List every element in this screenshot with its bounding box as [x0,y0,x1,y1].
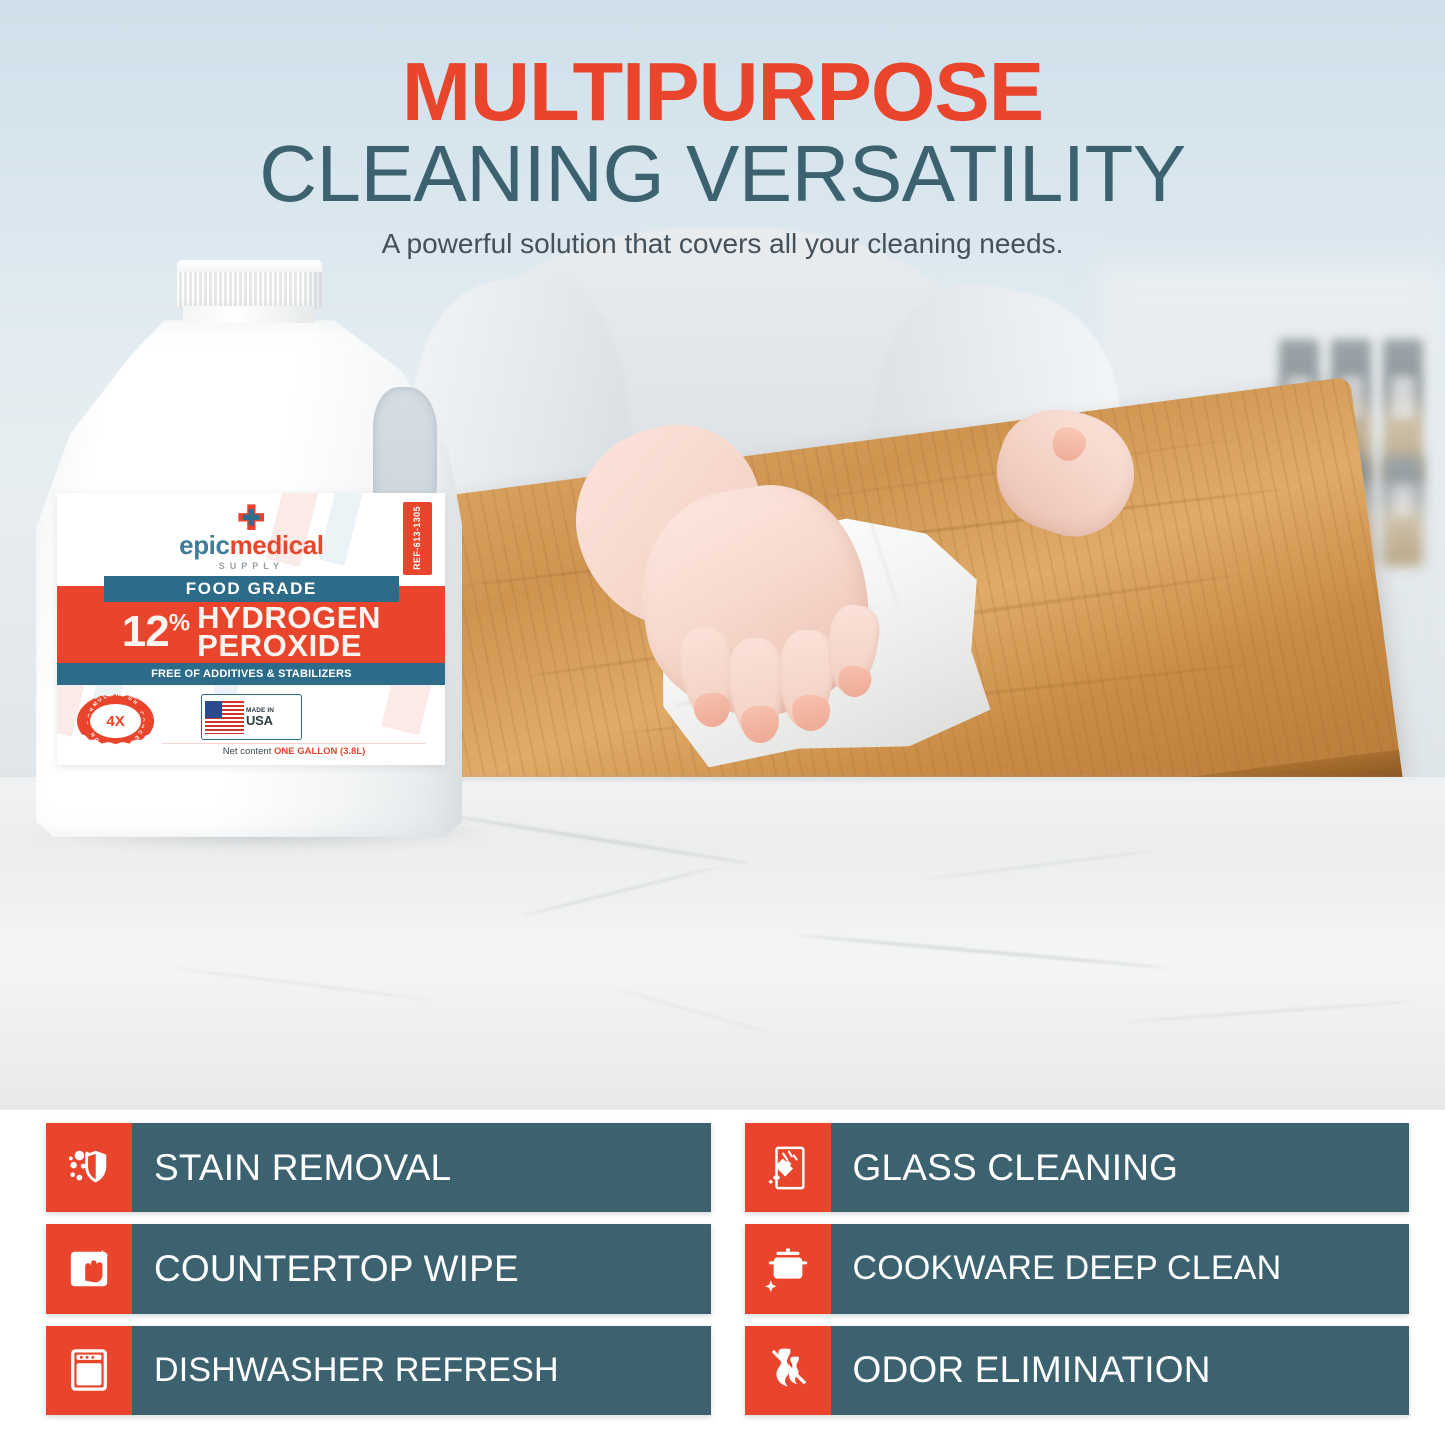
headline-primary: MULTIPURPOSE [0,52,1445,132]
feature-bar-dishwasher-refresh: DISHWASHER REFRESH [46,1326,711,1415]
feature-bar-glass-cleaning: GLASS CLEANING [745,1123,1410,1212]
headline-tagline: A powerful solution that covers all your… [0,228,1445,260]
food-grade-label: FOOD GRADE [186,579,317,599]
usa-flag-icon [205,701,244,735]
origin-line2: USA [246,714,274,727]
dishwasher-icon [46,1326,132,1415]
feature-bar-cookware-deep-clean: COOKWARE DEEP CLEAN [745,1224,1410,1313]
feature-label: GLASS CLEANING [831,1123,1410,1212]
product-label: REF-613-1305 epicmedical SUPPLY 12% [57,493,445,764]
feature-label: COUNTERTOP WIPE [132,1224,711,1313]
brand-name: epicmedical [57,532,445,558]
brand-subtitle: SUPPLY [57,561,445,571]
no-odor-icon [745,1326,831,1415]
squeegee-icon [745,1123,831,1212]
badge-multiplier-text: 4X [106,713,124,730]
net-content-line: Net content ONE GALLON (3.8L) [162,743,426,757]
percent-symbol: % [169,609,189,636]
stain-shield-icon [46,1123,132,1212]
badge-multiplier: 4X [88,702,142,740]
food-grade-badge: FOOD GRADE [104,576,399,602]
feature-label: ODOR ELIMINATION [831,1326,1410,1415]
feature-label: STAIN REMOVAL [132,1123,711,1212]
pot-icon [745,1224,831,1313]
brand-name-part2: medical [230,530,324,560]
brand-logo: epicmedical SUPPLY [57,504,445,571]
feature-bar-odor-elimination: ODOR ELIMINATION [745,1326,1410,1415]
made-in-usa-badge: MADE IN USA [201,694,302,740]
feature-label: COOKWARE DEEP CLEAN [831,1224,1410,1313]
brand-name-part1: epic [179,530,229,560]
product-name-line2: PEROXIDE [197,632,381,661]
product-bottle: REF-613-1305 epicmedical SUPPLY 12% [36,260,462,837]
percent-number: 12 [122,607,169,656]
concentration-badge: HIGH CONCENTRATION FORMULA 4X [77,694,155,748]
concentration-percent: 12% [122,612,189,652]
wiping-hand-icon [46,1224,132,1313]
headline-block: MULTIPURPOSE CLEANING VERSATILITY A powe… [0,0,1445,260]
headline-secondary: CLEANING VERSATILITY [0,136,1445,213]
product-name-text: HYDROGEN PEROXIDE [197,604,381,661]
medical-cross-icon [238,504,264,530]
feature-bar-stain-removal: STAIN REMOVAL [46,1123,711,1212]
additives-band: FREE OF ADDITIVES & STABILIZERS [57,663,445,685]
additives-label: FREE OF ADDITIVES & STABILIZERS [151,668,352,680]
feature-bar-countertop-wipe: COUNTERTOP WIPE [46,1224,711,1313]
net-content-prefix: Net content [223,746,274,757]
feature-bar-grid: STAIN REMOVALGLASS CLEANINGCOUNTERTOP WI… [0,1105,1445,1445]
bottle-neck [183,306,315,323]
product-marketing-image: REF-613-1305 epicmedical SUPPLY 12% [0,0,1445,1445]
feature-label: DISHWASHER REFRESH [132,1326,711,1415]
net-content-value: ONE GALLON (3.8L) [274,746,365,757]
